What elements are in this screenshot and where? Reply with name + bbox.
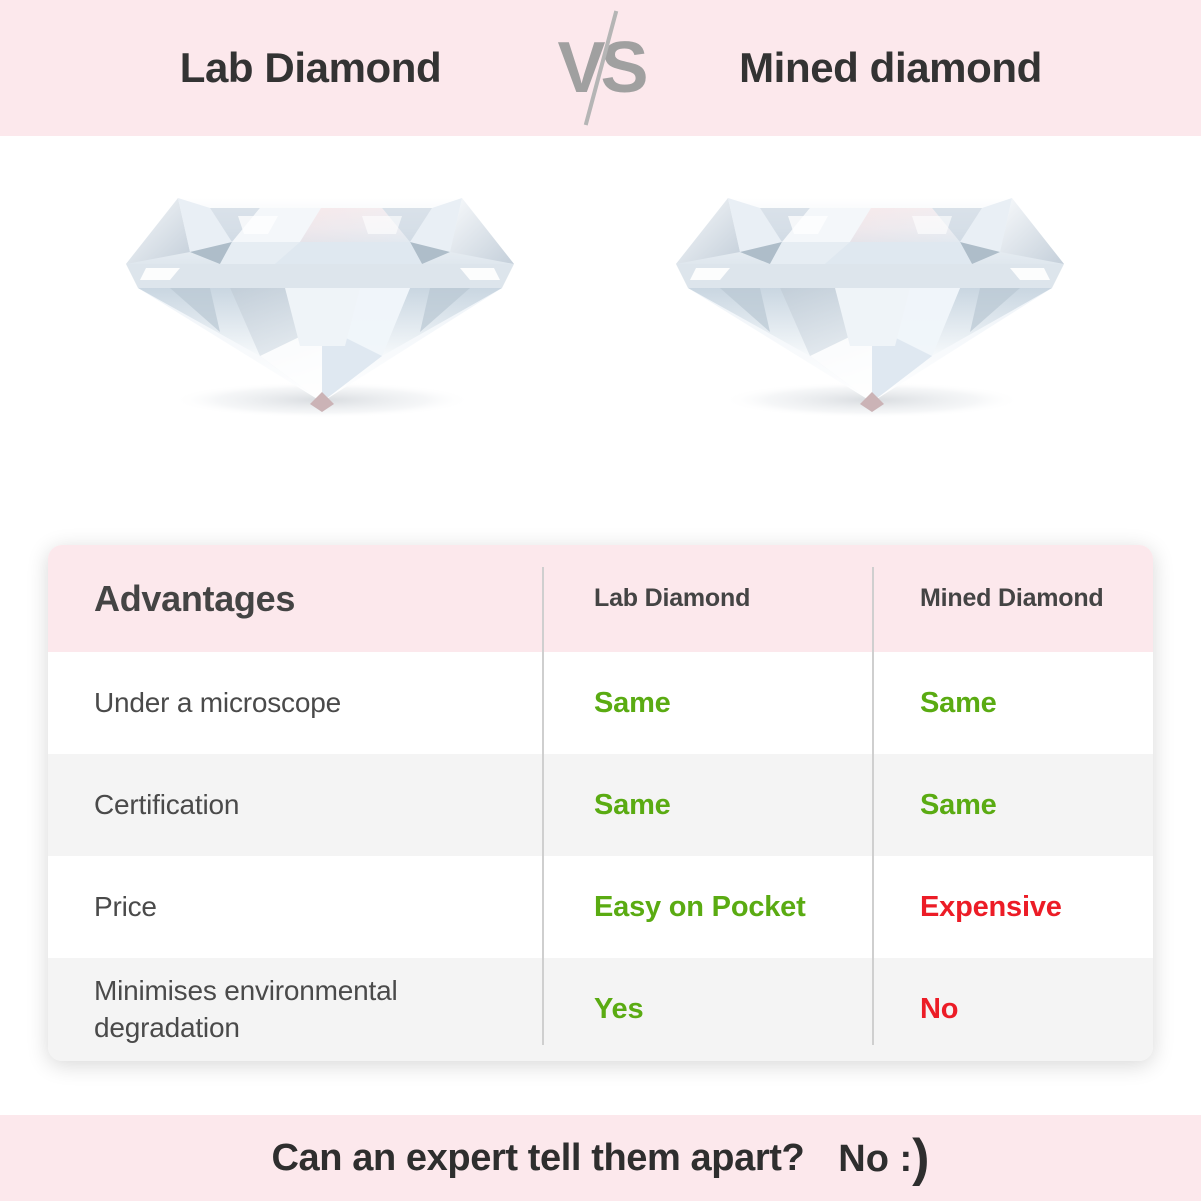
comparison-table-card: Advantages Lab Diamond Mined Diamond Und… <box>48 545 1153 1061</box>
header-banner-inner: Lab Diamond VS Mined diamond <box>0 13 1201 123</box>
feature-label: Certification <box>94 787 239 824</box>
table-row: Certification Same Same <box>48 754 1153 856</box>
footer-answer: No :) <box>838 1128 929 1188</box>
mined-value-cell: Same <box>872 652 1153 754</box>
lab-value-cell: Easy on Pocket <box>542 856 872 958</box>
mined-value: Same <box>920 789 997 822</box>
footer-answer-text: No : <box>838 1138 912 1180</box>
header-banner: Lab Diamond VS Mined diamond <box>0 0 1201 136</box>
diamond-icon <box>660 156 1080 456</box>
mined-diamond-image <box>660 156 1080 456</box>
feature-cell: Certification <box>48 754 542 856</box>
feature-cell: Price <box>48 856 542 958</box>
header-cell-mined-diamond: Mined Diamond <box>872 545 1153 652</box>
feature-cell: Under a microscope <box>48 652 542 754</box>
table-header-row: Advantages Lab Diamond Mined Diamond <box>48 545 1153 652</box>
lab-diamond-image <box>110 156 530 456</box>
table-row: Minimises environmental degradation Yes … <box>48 958 1153 1061</box>
feature-cell: Minimises environmental degradation <box>48 958 542 1061</box>
feature-label: Under a microscope <box>94 685 341 722</box>
table-row: Price Easy on Pocket Expensive <box>48 856 1153 958</box>
footer-banner: Can an expert tell them apart? No :) <box>0 1115 1201 1201</box>
vs-badge: VS <box>546 13 656 123</box>
mined-diamond-title: Mined diamond <box>656 44 1126 92</box>
diamond-images-section <box>0 136 1201 536</box>
footer-question: Can an expert tell them apart? <box>271 1137 804 1180</box>
lab-value: Easy on Pocket <box>594 891 806 924</box>
mined-value-cell: No <box>872 958 1153 1061</box>
lab-value-cell: Yes <box>542 958 872 1061</box>
lab-value-cell: Same <box>542 652 872 754</box>
feature-label: Price <box>94 889 157 926</box>
mined-value-cell: Same <box>872 754 1153 856</box>
diamond-icon <box>110 156 530 456</box>
lab-value: Same <box>594 789 671 822</box>
lab-value: Same <box>594 687 671 720</box>
footer-answer-paren: ) <box>912 1129 929 1187</box>
header-label-advantages: Advantages <box>94 578 295 620</box>
mined-value: Expensive <box>920 891 1062 924</box>
comparison-table: Advantages Lab Diamond Mined Diamond Und… <box>48 545 1153 1061</box>
lab-diamond-title: Lab Diamond <box>76 44 546 92</box>
feature-label: Minimises environmental degradation <box>94 973 542 1047</box>
table-row: Under a microscope Same Same <box>48 652 1153 754</box>
mined-value: Same <box>920 687 997 720</box>
lab-value: Yes <box>594 993 643 1026</box>
lab-value-cell: Same <box>542 754 872 856</box>
header-cell-lab-diamond: Lab Diamond <box>542 545 872 652</box>
header-label-lab-diamond: Lab Diamond <box>594 584 750 613</box>
mined-value: No <box>920 993 958 1026</box>
header-label-mined-diamond: Mined Diamond <box>920 584 1104 613</box>
comparison-infographic: Lab Diamond VS Mined diamond <box>0 0 1201 1201</box>
header-cell-advantages: Advantages <box>48 545 542 652</box>
mined-value-cell: Expensive <box>872 856 1153 958</box>
